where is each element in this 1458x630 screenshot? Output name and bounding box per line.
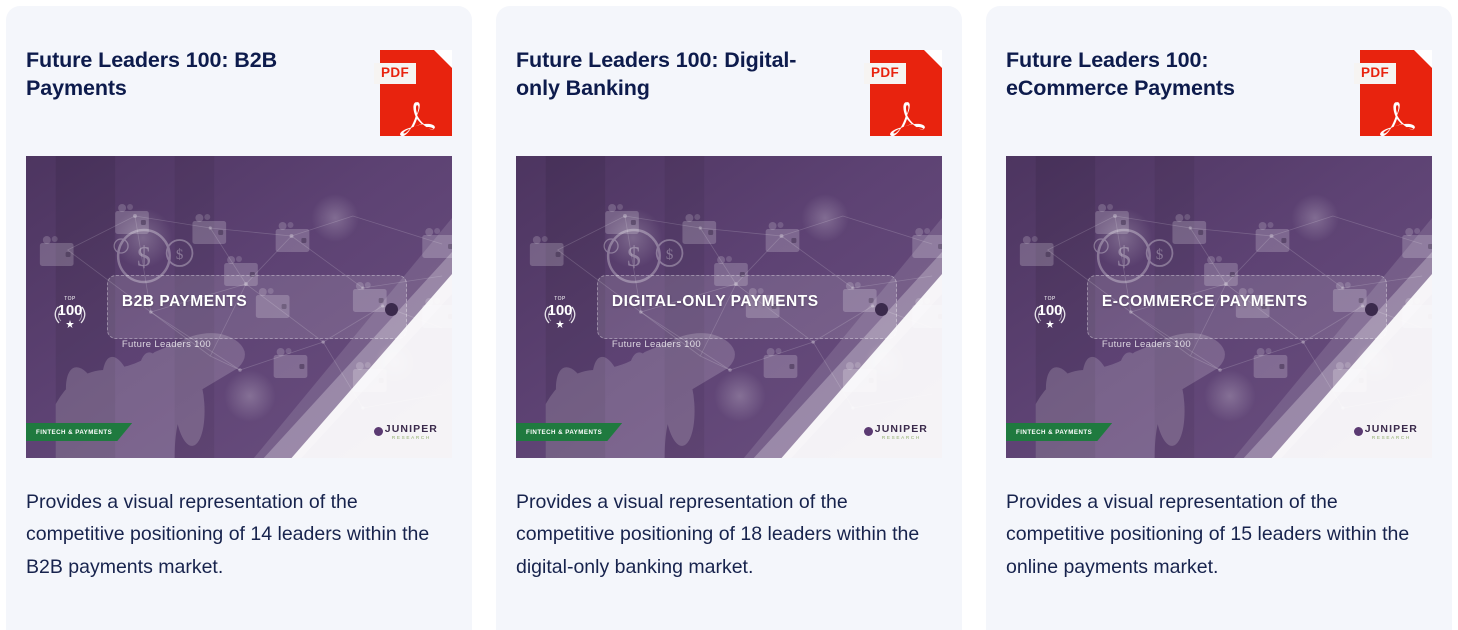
pdf-file-icon[interactable]: PDF xyxy=(1360,50,1432,136)
acrobat-swirl-icon xyxy=(1373,100,1419,136)
report-thumbnail[interactable]: $ $ TOP 100 xyxy=(26,156,452,458)
svg-text:$: $ xyxy=(1156,247,1163,263)
card-header: Future Leaders 100: Digital-only Banking… xyxy=(516,46,942,136)
report-card-grid: Future Leaders 100: B2B Payments PDF xyxy=(0,0,1458,630)
thumbnail-artwork: $ $ xyxy=(26,156,452,458)
pdf-icon-label: PDF xyxy=(864,63,906,84)
card-header: Future Leaders 100: B2B Payments PDF xyxy=(26,46,452,136)
acrobat-swirl-icon xyxy=(393,100,439,136)
pdf-icon-label: PDF xyxy=(374,63,416,84)
pdf-icon-label: PDF xyxy=(1354,63,1396,84)
pdf-file-icon[interactable]: PDF xyxy=(380,50,452,136)
card-description: Provides a visual representation of the … xyxy=(1006,486,1432,583)
card-title: Future Leaders 100: Digital-only Banking xyxy=(516,46,826,103)
report-card[interactable]: Future Leaders 100: Digital-only Banking… xyxy=(496,6,962,630)
report-thumbnail[interactable]: $ $ TOP 100 xyxy=(516,156,942,458)
card-title: Future Leaders 100: B2B Payments xyxy=(26,46,336,103)
svg-text:$: $ xyxy=(1117,242,1131,273)
report-card[interactable]: Future Leaders 100: eCommerce Payments P… xyxy=(986,6,1452,630)
thumbnail-artwork: $ $ xyxy=(1006,156,1432,458)
card-title: Future Leaders 100: eCommerce Payments xyxy=(1006,46,1316,103)
card-header: Future Leaders 100: eCommerce Payments P… xyxy=(1006,46,1432,136)
card-description: Provides a visual representation of the … xyxy=(516,486,942,583)
report-card[interactable]: Future Leaders 100: B2B Payments PDF xyxy=(6,6,472,630)
thumbnail-artwork: $ $ xyxy=(516,156,942,458)
acrobat-swirl-icon xyxy=(883,100,929,136)
pdf-file-icon[interactable]: PDF xyxy=(870,50,942,136)
svg-text:$: $ xyxy=(666,247,673,263)
svg-text:$: $ xyxy=(627,242,641,273)
svg-text:$: $ xyxy=(176,247,183,263)
card-description: Provides a visual representation of the … xyxy=(26,486,452,583)
report-thumbnail[interactable]: $ $ TOP 100 xyxy=(1006,156,1432,458)
svg-text:$: $ xyxy=(137,242,151,273)
